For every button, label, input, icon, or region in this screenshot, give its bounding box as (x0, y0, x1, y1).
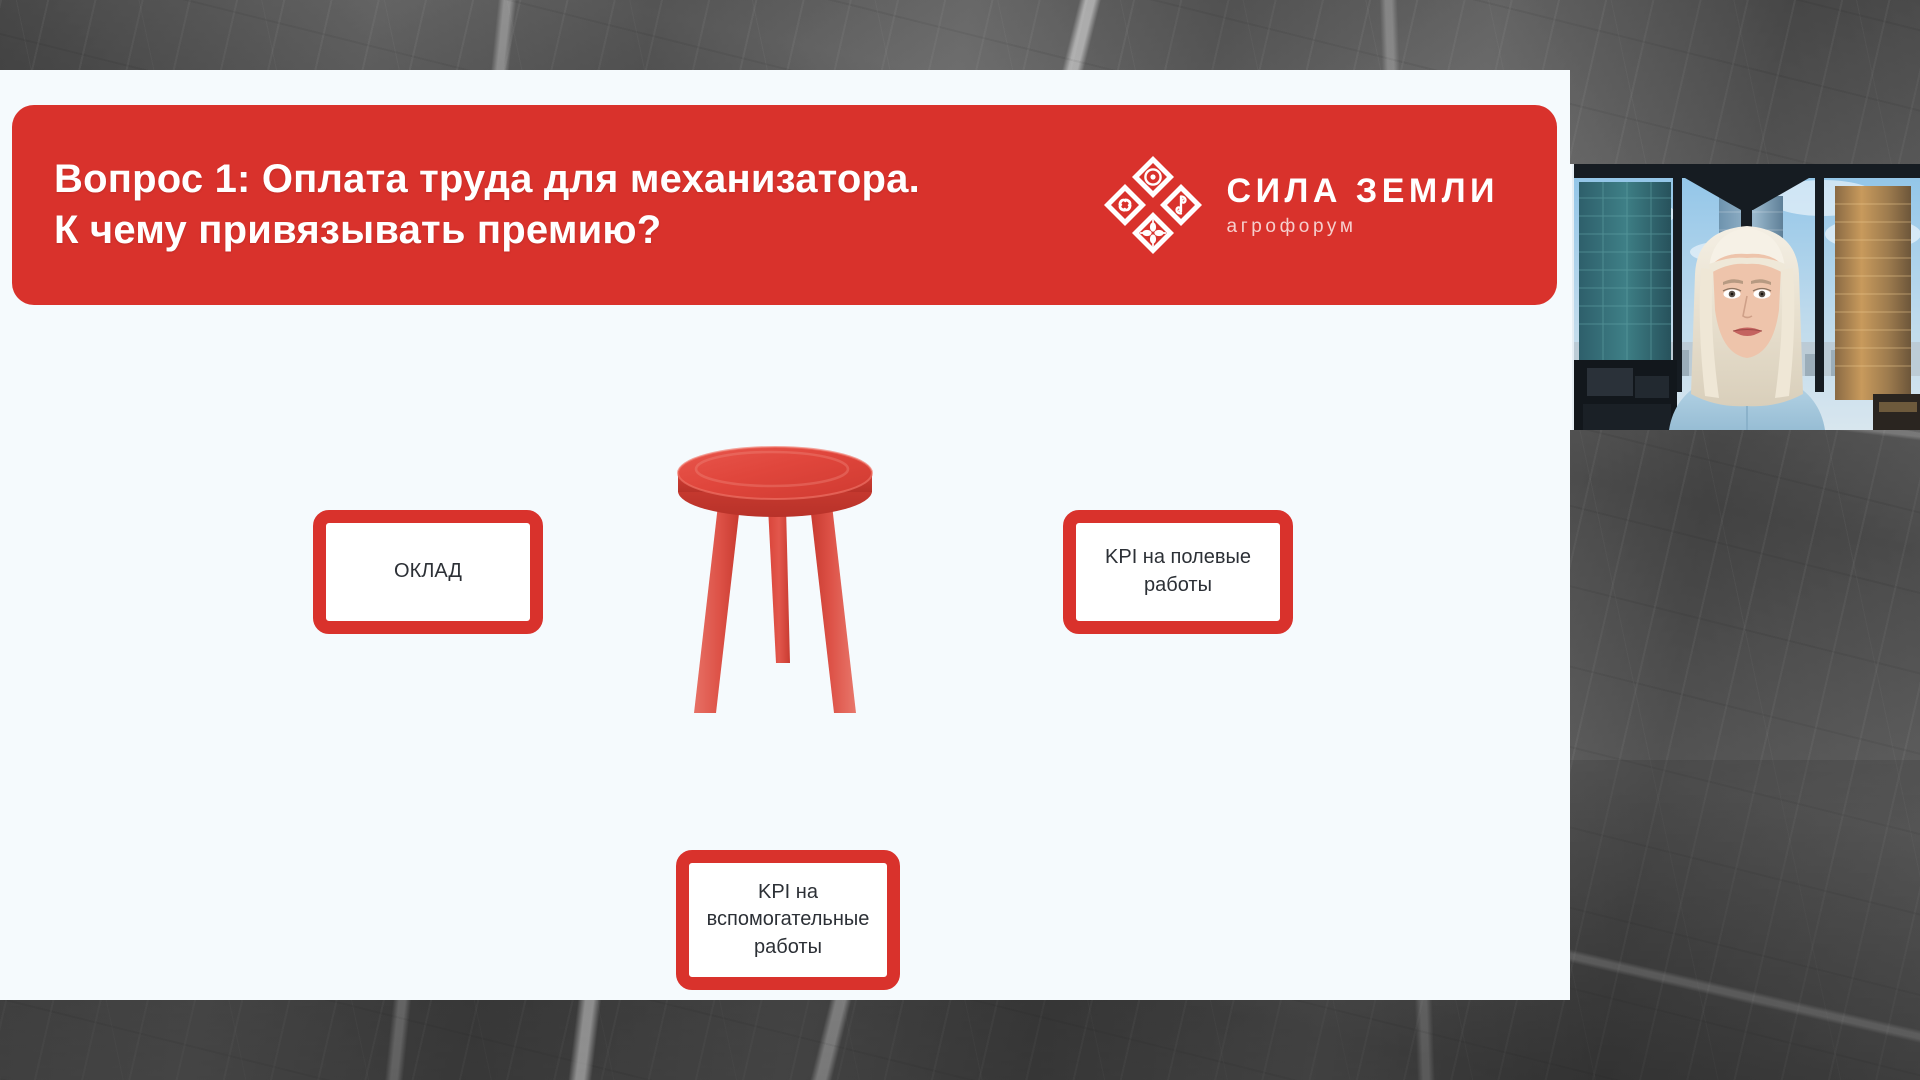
diamond-ornament-logo-icon (1101, 153, 1205, 257)
red-stool-illustration (668, 445, 882, 733)
brand-text: СИЛА ЗЕМЛИ агрофорум (1227, 174, 1499, 236)
brand-name: СИЛА ЗЕМЛИ (1227, 174, 1499, 208)
brand-lockup: СИЛА ЗЕМЛИ агрофорум (1101, 153, 1499, 257)
slide-title-banner: Вопрос 1: Оплата труда для механизатора.… (12, 105, 1557, 305)
slide-title: Вопрос 1: Оплата труда для механизатора.… (54, 154, 920, 256)
diagram-node-aux-kpi[interactable]: KPI на вспомогательные работы (676, 850, 900, 990)
screen: Вопрос 1: Оплата труда для механизатора.… (0, 0, 1920, 1080)
three-legged-stool-diagram: ОКЛАД KPI на полевые работы KPI на вспом… (0, 305, 1570, 1000)
speaker-video-feed[interactable] (1572, 164, 1920, 430)
presentation-slide: Вопрос 1: Оплата труда для механизатора.… (0, 70, 1570, 1000)
diagram-node-salary[interactable]: ОКЛАД (313, 510, 543, 634)
diagram-node-field-kpi[interactable]: KPI на полевые работы (1063, 510, 1293, 634)
speaker-video-frame (1574, 164, 1920, 430)
brand-subtitle: агрофорум (1227, 217, 1499, 236)
